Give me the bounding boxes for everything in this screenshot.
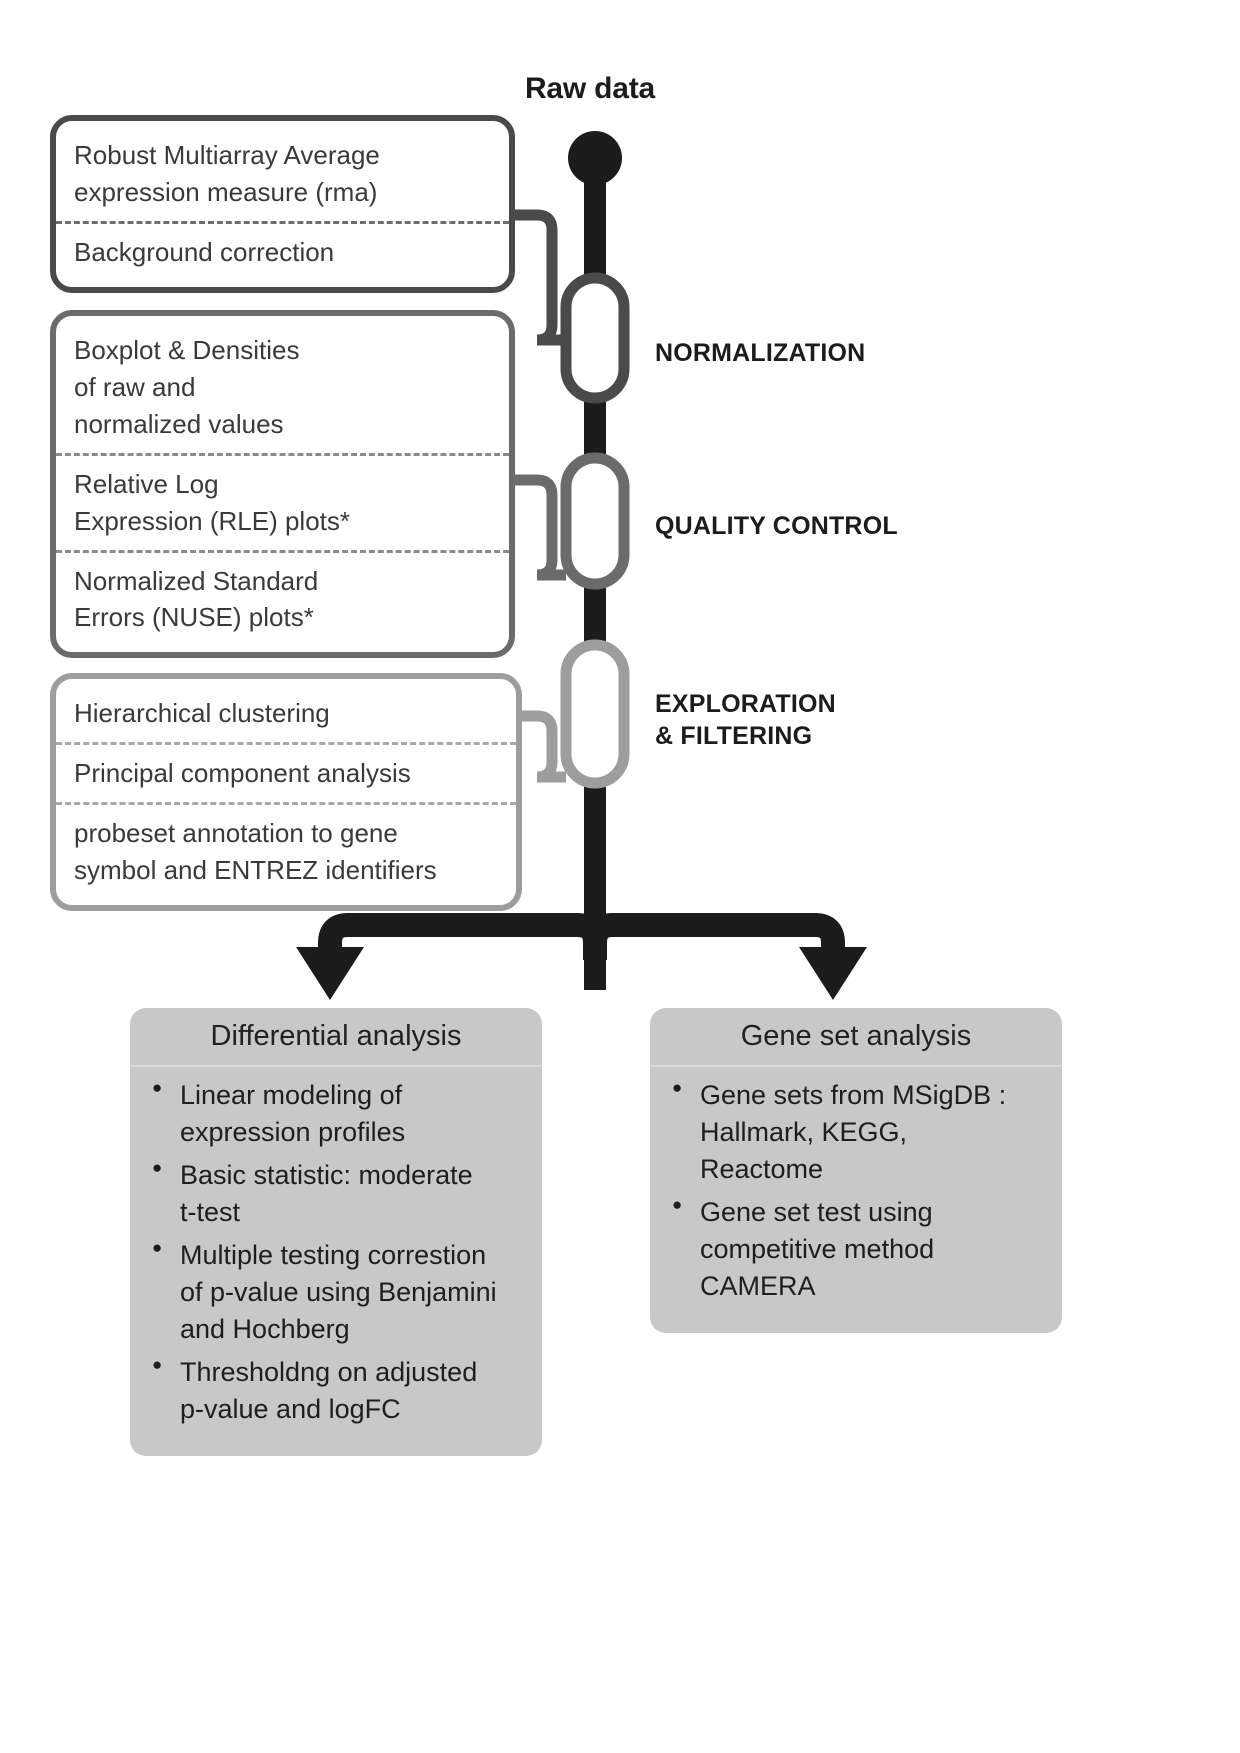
fork-branch-left: [330, 925, 595, 963]
connector-quality-control: [513, 480, 566, 575]
connector-exploration: [519, 716, 566, 777]
arrowhead-differential: [296, 947, 364, 1000]
bullet-list-gene-set-analysis: Gene sets from MSigDB : Hallmark, KEGG, …: [650, 1067, 1062, 1333]
step-item-rma: Robust Multiarray Average expression mea…: [56, 127, 509, 221]
list-item: Gene set test using competitive method C…: [670, 1194, 1046, 1305]
raw-data-node-dot: [568, 131, 622, 185]
stage-label-normalization: NORMALIZATION: [655, 337, 865, 369]
panel-title-differential-analysis: Differential analysis: [130, 1008, 542, 1067]
list-item: Linear modeling of expression profiles: [150, 1077, 526, 1151]
stage-bead-quality-control: [566, 458, 624, 584]
result-panel-differential-analysis: Differential analysis Linear modeling of…: [130, 1008, 542, 1456]
stage-label-exploration: EXPLORATION & FILTERING: [655, 688, 836, 752]
step-item-probeset-annotation: probeset annotation to gene symbol and E…: [56, 802, 516, 899]
raw-data-title: Raw data: [430, 72, 750, 106]
step-item-rle-plots: Relative Log Expression (RLE) plots*: [56, 453, 509, 550]
step-card-quality-control: Boxplot & Densities of raw and normalize…: [50, 310, 515, 658]
stage-bead-exploration: [566, 645, 624, 783]
list-item: Basic statistic: moderate t-test: [150, 1157, 526, 1231]
list-item: Multiple testing correstion of p-value u…: [150, 1237, 526, 1348]
result-panel-gene-set-analysis: Gene set analysis Gene sets from MSigDB …: [650, 1008, 1062, 1333]
stage-bead-normalization: [566, 278, 624, 398]
step-item-boxplot-densities: Boxplot & Densities of raw and normalize…: [56, 322, 509, 453]
step-card-exploration: Hierarchical clustering Principal compon…: [50, 673, 522, 911]
fork-branch-right: [595, 925, 833, 963]
step-item-principal-component-analysis: Principal component analysis: [56, 742, 516, 802]
stage-label-quality-control: QUALITY CONTROL: [655, 510, 898, 542]
step-item-nuse-plots: Normalized Standard Errors (NUSE) plots*: [56, 550, 509, 647]
step-item-background-correction: Background correction: [56, 221, 509, 281]
arrowhead-geneset: [799, 947, 867, 1000]
bullet-list-differential-analysis: Linear modeling of expression profiles B…: [130, 1067, 542, 1456]
list-item: Gene sets from MSigDB : Hallmark, KEGG, …: [670, 1077, 1046, 1188]
step-item-hierarchical-clustering: Hierarchical clustering: [56, 685, 516, 742]
step-card-normalization: Robust Multiarray Average expression mea…: [50, 115, 515, 293]
workflow-diagram: Raw data NORMALIZATION QUALITY CONTROL E…: [0, 0, 1240, 1753]
list-item: Thresholdng on adjusted p-value and logF…: [150, 1354, 526, 1428]
connector-normalization: [513, 215, 566, 340]
panel-title-gene-set-analysis: Gene set analysis: [650, 1008, 1062, 1067]
